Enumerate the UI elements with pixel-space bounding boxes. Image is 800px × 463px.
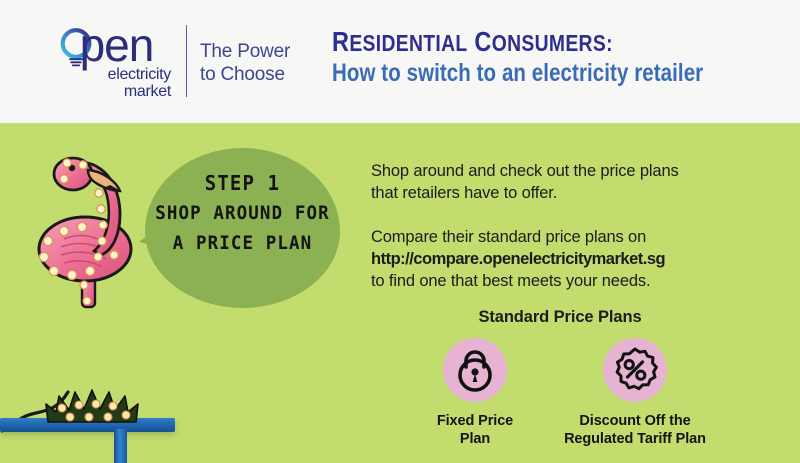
copy-para1-line1: Shop around and check out the price plan… — [371, 160, 771, 182]
flamingo-lamp-icon — [28, 143, 148, 398]
logo-subtext-line1: electricity — [108, 66, 171, 83]
logo-wordmark: oopenpen — [55, 22, 153, 68]
tagline-line2: to Choose — [200, 64, 285, 85]
tagline-line1: The Power — [200, 41, 290, 62]
compare-url-link[interactable]: http://compare.openelectricitymarket.sg — [371, 248, 771, 270]
page-title-line1: RESIDENTIAL CONSUMERS: — [332, 26, 712, 59]
bubble-line-2: SHOP AROUND FOR — [153, 198, 332, 228]
copy-spacer — [371, 204, 771, 226]
page-title-line2: How to switch to an electricity retailer — [332, 59, 703, 88]
body-copy: Shop around and check out the price plan… — [371, 160, 771, 292]
plan-label-line1: Fixed Price — [437, 413, 513, 429]
percent-badge-icon — [603, 338, 667, 402]
header-bar: oopenpen electricity market The Power to… — [0, 0, 800, 123]
padlock-icon — [443, 338, 507, 402]
infographic-page: oopenpen electricity market The Power to… — [0, 0, 800, 463]
plan-item-fixed-price: Fixed Price Plan — [415, 338, 535, 448]
speech-bubble-text: STEP 1 SHOP AROUND FOR A PRICE PLAN — [145, 168, 340, 258]
plan-label-discount: Discount Off the Regulated Tariff Plan — [545, 412, 725, 448]
open-electricity-market-logo: oopenpen electricity market — [55, 22, 175, 102]
header-divider — [186, 25, 187, 97]
plan-label-line1: Discount Off the — [579, 413, 690, 429]
page-title: RESIDENTIAL CONSUMERS: How to switch to … — [332, 26, 785, 88]
logo-subtext: electricity market — [99, 66, 171, 100]
plan-item-discount: Discount Off the Regulated Tariff Plan — [545, 338, 725, 448]
bubble-line-3: A PRICE PLAN — [153, 228, 332, 258]
copy-para2-line1: Compare their standard price plans on — [371, 226, 771, 248]
copy-para1-line2: that retailers have to offer. — [371, 182, 771, 204]
plan-label-line2: Regulated Tariff Plan — [564, 431, 706, 447]
standard-price-plans-title: Standard Price Plans — [400, 308, 720, 327]
tagline: The Power to Choose — [200, 40, 290, 86]
logo-subtext-line2: market — [124, 83, 171, 100]
plan-label-fixed-price: Fixed Price Plan — [415, 412, 535, 448]
plan-label-line2: Plan — [460, 431, 490, 447]
bubble-line-1: STEP 1 — [150, 168, 335, 198]
copy-para2-line3: to find one that best meets your needs. — [371, 270, 771, 292]
shelf-bracket-icon — [114, 429, 127, 463]
